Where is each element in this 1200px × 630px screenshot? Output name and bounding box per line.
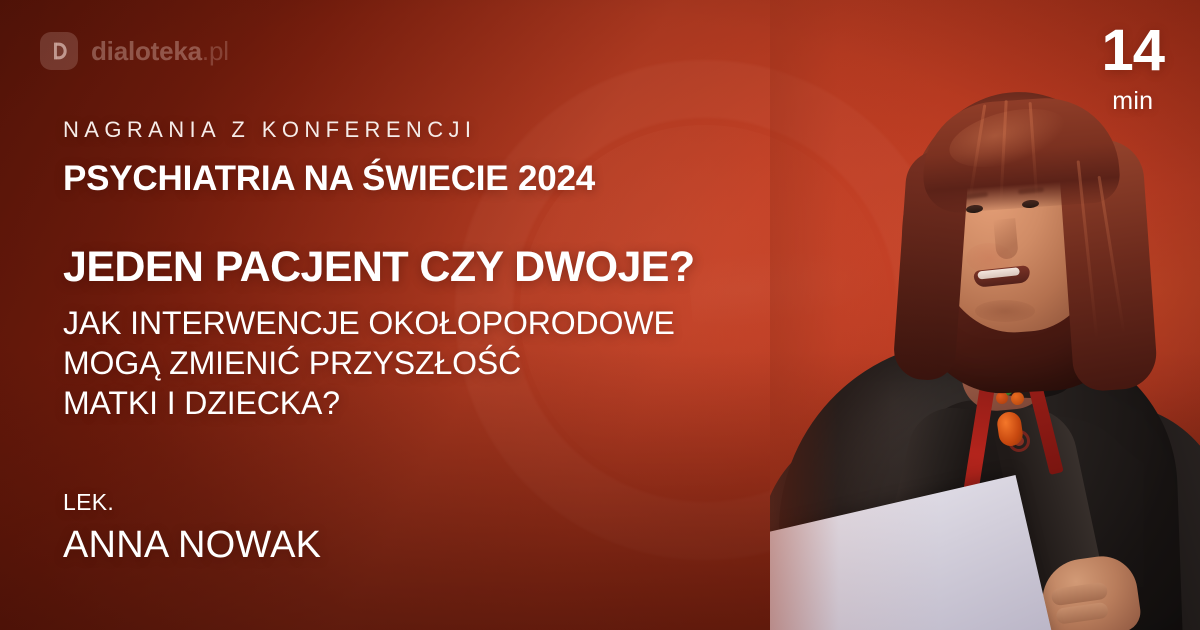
dialoteka-d-logo-icon (40, 32, 78, 70)
video-thumbnail-card: dialoteka.pl 14 min NAGRANIA Z KONFERENC… (0, 0, 1200, 630)
nose (993, 218, 1018, 260)
speaker-role: LEK. (63, 489, 114, 516)
necklace-bead (1011, 392, 1024, 405)
duration-value: 14 (1101, 22, 1164, 80)
lecture-headline: JEDEN PACJENT CZY DWOJE? (63, 245, 695, 290)
duration-badge: 14 min (1101, 22, 1164, 114)
chin-shadow (975, 300, 1035, 322)
duration-unit: min (1101, 89, 1164, 114)
eyebrow-label: NAGRANIA Z KONFERENCJI (63, 117, 476, 143)
brand-tld: .pl (202, 36, 229, 66)
speaker-name: ANNA NOWAK (63, 524, 321, 567)
subhead-line: JAK INTERWENCJE OKOŁOPORODOWE (63, 303, 675, 343)
subhead-line: MOGĄ ZMIENIĆ PRZYSZŁOŚĆ (63, 343, 675, 383)
brand-logo[interactable]: dialoteka.pl (40, 32, 229, 70)
brand-name: dialoteka (91, 36, 202, 66)
subhead-line: MATKI I DZIECKA? (63, 383, 675, 423)
necklace-bead (996, 392, 1008, 404)
conference-title: PSYCHIATRIA NA ŚWIECIE 2024 (63, 159, 595, 199)
brand-wordmark: dialoteka.pl (91, 38, 229, 64)
lecture-subhead: JAK INTERWENCJE OKOŁOPORODOWE MOGĄ ZMIEN… (63, 303, 675, 423)
